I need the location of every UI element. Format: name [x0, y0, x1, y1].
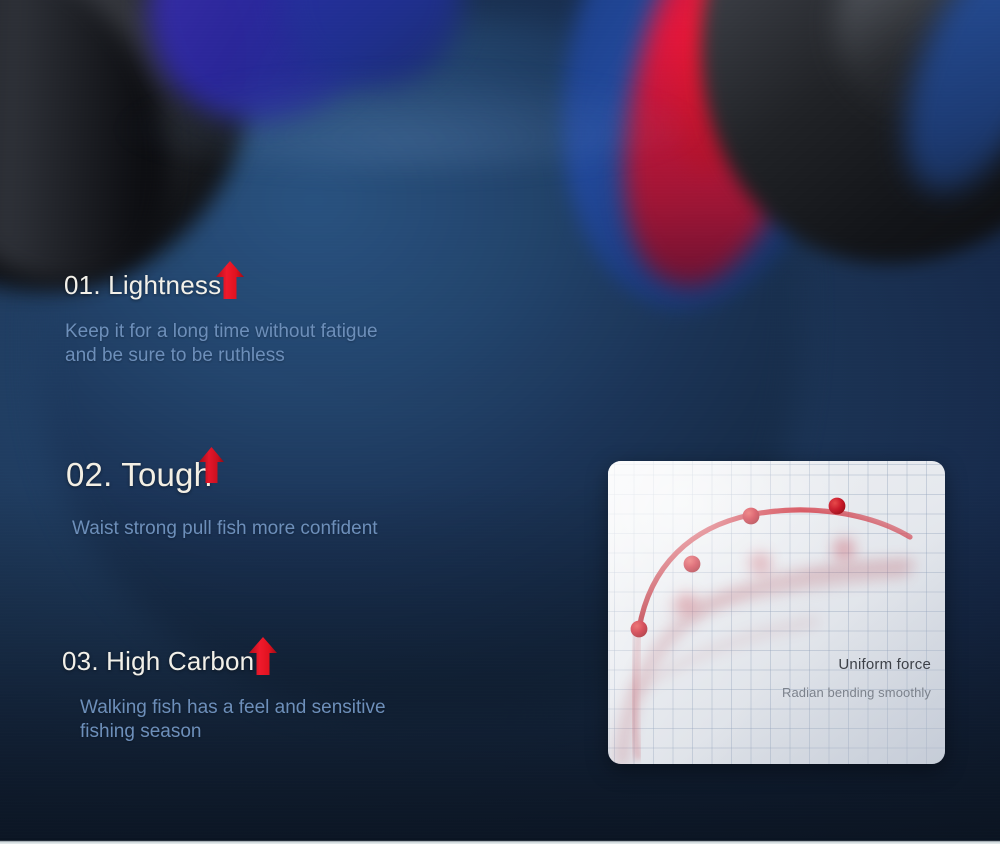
feature-description: Walking fish has a feel and sensitive fi…	[80, 696, 386, 744]
chart-annotation-block: Uniform force Radian bending smoothly	[782, 655, 931, 702]
background-edge-sheen	[60, 10, 760, 170]
feature-description: Waist strong pull fish more confident	[72, 517, 378, 541]
feature-item-lightness: 01. Lightness	[64, 272, 378, 368]
bend-curve-card: Uniform force Radian bending smoothly	[608, 461, 945, 764]
feature-description: Keep it for a long time without fatigue …	[65, 320, 378, 368]
feature-title: 02. Tough	[66, 458, 212, 493]
bend-curve-plot	[608, 461, 945, 764]
chart-point-3	[743, 508, 760, 525]
chart-point-4	[829, 498, 846, 515]
chart-label-radian-bending: Radian bending smoothly	[782, 684, 931, 702]
feature-item-high-carbon: 03. High Carbon	[62, 648, 386, 744]
chart-point-2	[684, 556, 701, 573]
up-arrow-icon	[198, 446, 225, 484]
feature-title: 01. Lightness	[64, 272, 221, 299]
feature-title-row: 02. Tough	[66, 458, 378, 493]
bottom-edge-strip	[0, 838, 1000, 844]
up-arrow-icon	[248, 636, 278, 676]
chart-label-uniform-force: Uniform force	[782, 655, 931, 675]
chart-point-1	[631, 621, 648, 638]
up-arrow-icon	[215, 260, 245, 300]
feature-title-row: 03. High Carbon	[62, 648, 386, 676]
feature-item-tough: 02. Tough	[66, 458, 378, 541]
feature-title: 03. High Carbon	[62, 648, 254, 675]
poster-canvas: 01. Lightness	[0, 0, 1000, 844]
feature-title-row: 01. Lightness	[64, 272, 378, 300]
